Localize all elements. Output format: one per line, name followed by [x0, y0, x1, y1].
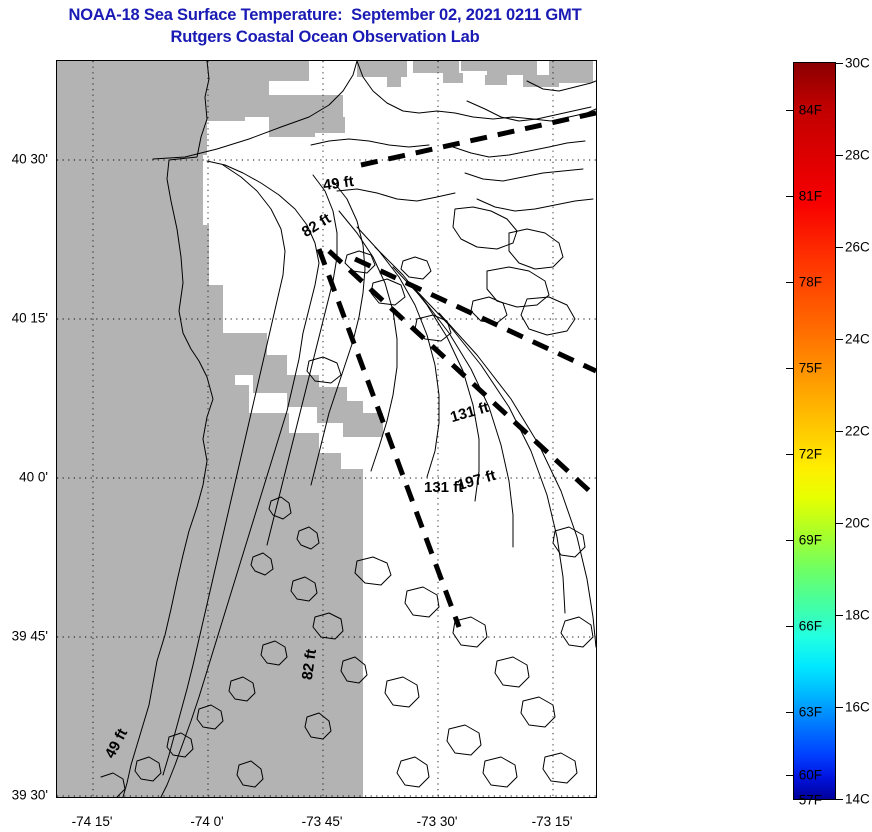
- cb-tick-f-75: [786, 368, 793, 369]
- y-tick-minor-right: [596, 669, 597, 670]
- x-tick-minor-top: [139, 60, 140, 61]
- y-axis-label-4015: 40 15': [8, 311, 48, 326]
- x-tick-minor-top: [254, 60, 255, 61]
- cb-tick-c-22: [836, 431, 843, 432]
- cb-tick-c-18: [836, 615, 843, 616]
- y-tick-minor-right: [596, 542, 597, 543]
- x-tick-minor-top: [231, 60, 232, 61]
- cb-tick-c-28: [836, 155, 843, 156]
- y-tick-minor: [56, 351, 57, 352]
- x-tick-minor-top: [346, 60, 347, 61]
- y-tick-major-right: [596, 319, 597, 320]
- x-tick-major: [553, 797, 554, 798]
- x-tick-minor-top: [70, 60, 71, 61]
- x-tick-major: [438, 797, 439, 798]
- x-tick-minor: [139, 797, 140, 798]
- cb-tick-c-16: [836, 707, 843, 708]
- cb-tick-f-69: [786, 540, 793, 541]
- cb-label-30C: 30C: [845, 56, 870, 71]
- cb-label-28C: 28C: [845, 148, 870, 163]
- cb-label-26C: 26C: [845, 240, 870, 255]
- x-tick-major: [93, 797, 94, 798]
- x-axis-label-7330: -73 30': [417, 814, 458, 829]
- y-tick-minor-right: [596, 87, 597, 88]
- cb-label-60F: 60F: [799, 768, 822, 783]
- cb-label-66F: 66F: [799, 619, 822, 634]
- y-tick-minor: [56, 605, 57, 606]
- x-tick-minor-top: [576, 60, 577, 61]
- y-tick-minor-right: [596, 118, 597, 119]
- x-tick-minor-top: [300, 60, 301, 61]
- x-axis-label-740: -74 0': [190, 814, 223, 829]
- cb-label-57F: 57F: [799, 793, 822, 808]
- y-tick-major-right: [596, 160, 597, 161]
- cb-label-22C: 22C: [845, 424, 870, 439]
- cb-tick-f-78: [786, 282, 793, 283]
- y-tick-minor: [56, 764, 57, 765]
- x-tick-minor: [530, 797, 531, 798]
- y-tick-major-right: [596, 796, 597, 797]
- cb-tick-f-84: [786, 110, 793, 111]
- title-line-2: Rutgers Coastal Ocean Observation Lab: [0, 26, 650, 48]
- x-tick-major: [208, 797, 209, 798]
- y-tick-major-right: [596, 478, 597, 479]
- y-tick-minor-right: [596, 383, 597, 384]
- y-tick-major-right: [596, 637, 597, 638]
- y-tick-major: [56, 478, 57, 479]
- x-tick-minor: [576, 797, 577, 798]
- cb-label-20C: 20C: [845, 516, 870, 531]
- cb-label-14C: 14C: [845, 792, 870, 807]
- y-tick-major: [56, 637, 57, 638]
- y-tick-minor: [56, 542, 57, 543]
- y-axis-label-3930: 39 30': [8, 788, 48, 803]
- x-tick-minor: [300, 797, 301, 798]
- x-tick-major-top: [208, 60, 209, 61]
- x-tick-minor: [392, 797, 393, 798]
- cb-tick-f-72: [786, 454, 793, 455]
- y-tick-minor-right: [596, 224, 597, 225]
- x-tick-minor: [116, 797, 117, 798]
- cb-tick-c-30: [836, 63, 843, 64]
- y-tick-minor: [56, 224, 57, 225]
- y-tick-minor: [56, 669, 57, 670]
- x-tick-minor-top: [461, 60, 462, 61]
- x-tick-major: [323, 797, 324, 798]
- y-tick-minor-right: [596, 701, 597, 702]
- y-tick-major: [56, 796, 57, 797]
- sst-map-plot[interactable]: 49 ft 82 ft 131 ft 197 ft 131 ft 82 ft 4…: [56, 60, 597, 798]
- x-tick-major-top: [323, 60, 324, 61]
- cb-label-75F: 75F: [799, 361, 822, 376]
- cb-label-18C: 18C: [845, 608, 870, 623]
- y-tick-minor-right: [596, 574, 597, 575]
- cb-label-63F: 63F: [799, 705, 822, 720]
- x-tick-minor: [346, 797, 347, 798]
- x-axis-label-7345: -73 45': [302, 814, 343, 829]
- x-tick-minor: [461, 797, 462, 798]
- cb-label-78F: 78F: [799, 275, 822, 290]
- y-axis-label-4030: 40 30': [8, 152, 48, 167]
- y-tick-minor-right: [596, 733, 597, 734]
- x-tick-minor: [415, 797, 416, 798]
- y-tick-minor-right: [596, 415, 597, 416]
- y-tick-minor: [56, 446, 57, 447]
- x-tick-minor: [277, 797, 278, 798]
- y-axis-label-3945: 39 45': [8, 629, 48, 644]
- cb-tick-c-24: [836, 339, 843, 340]
- y-tick-major: [56, 319, 57, 320]
- x-tick-minor-top: [484, 60, 485, 61]
- x-tick-minor-top: [369, 60, 370, 61]
- x-tick-minor: [369, 797, 370, 798]
- cb-label-81F: 81F: [799, 189, 822, 204]
- x-tick-minor-top: [277, 60, 278, 61]
- x-tick-minor-top: [162, 60, 163, 61]
- x-tick-major-top: [553, 60, 554, 61]
- y-tick-minor-right: [596, 192, 597, 193]
- title-line-1: NOAA-18 Sea Surface Temperature: Septemb…: [0, 4, 650, 26]
- y-axis-label-400: 40 0': [12, 470, 48, 485]
- x-tick-minor-top: [507, 60, 508, 61]
- colorbar-gradient: [793, 62, 836, 800]
- cb-tick-f-81: [786, 196, 793, 197]
- x-tick-minor: [484, 797, 485, 798]
- y-tick-minor: [56, 287, 57, 288]
- x-tick-minor: [70, 797, 71, 798]
- y-tick-minor-right: [596, 256, 597, 257]
- temperature-colorbar[interactable]: [793, 62, 836, 800]
- map-graphics: [57, 61, 596, 797]
- cb-label-16C: 16C: [845, 700, 870, 715]
- y-tick-minor: [56, 415, 57, 416]
- y-tick-minor: [56, 118, 57, 119]
- cb-label-24C: 24C: [845, 332, 870, 347]
- y-tick-minor: [56, 383, 57, 384]
- cb-label-69F: 69F: [799, 533, 822, 548]
- x-tick-minor-top: [116, 60, 117, 61]
- y-tick-minor: [56, 574, 57, 575]
- cb-tick-f-60: [786, 775, 793, 776]
- x-tick-minor-top: [530, 60, 531, 61]
- x-tick-minor-top: [392, 60, 393, 61]
- y-tick-minor-right: [596, 351, 597, 352]
- cb-tick-c-20: [836, 523, 843, 524]
- x-tick-minor: [254, 797, 255, 798]
- x-tick-minor: [162, 797, 163, 798]
- x-axis-label-7315: -73 15': [532, 814, 573, 829]
- y-tick-major: [56, 160, 57, 161]
- x-axis-label-7415: -74 15': [72, 814, 113, 829]
- y-tick-minor: [56, 87, 57, 88]
- cb-tick-f-63: [786, 712, 793, 713]
- x-tick-minor: [185, 797, 186, 798]
- y-tick-minor: [56, 192, 57, 193]
- x-tick-major-top: [438, 60, 439, 61]
- depth-label-131ft-lower: 131 ft: [424, 479, 463, 496]
- page-title: NOAA-18 Sea Surface Temperature: Septemb…: [0, 4, 650, 48]
- x-tick-minor-top: [415, 60, 416, 61]
- y-tick-minor-right: [596, 605, 597, 606]
- x-tick-minor: [507, 797, 508, 798]
- y-tick-minor-right: [596, 764, 597, 765]
- cb-tick-f-66: [786, 626, 793, 627]
- y-tick-minor-right: [596, 446, 597, 447]
- y-tick-minor: [56, 733, 57, 734]
- cb-tick-c-14: [836, 799, 843, 800]
- cb-label-72F: 72F: [799, 447, 822, 462]
- y-tick-minor: [56, 256, 57, 257]
- x-tick-minor: [231, 797, 232, 798]
- y-tick-minor-right: [596, 510, 597, 511]
- x-tick-minor-top: [185, 60, 186, 61]
- y-tick-minor-right: [596, 287, 597, 288]
- y-tick-minor: [56, 701, 57, 702]
- y-tick-minor: [56, 510, 57, 511]
- x-tick-major-top: [93, 60, 94, 61]
- cb-label-84F: 84F: [799, 103, 822, 118]
- cb-tick-c-26: [836, 247, 843, 248]
